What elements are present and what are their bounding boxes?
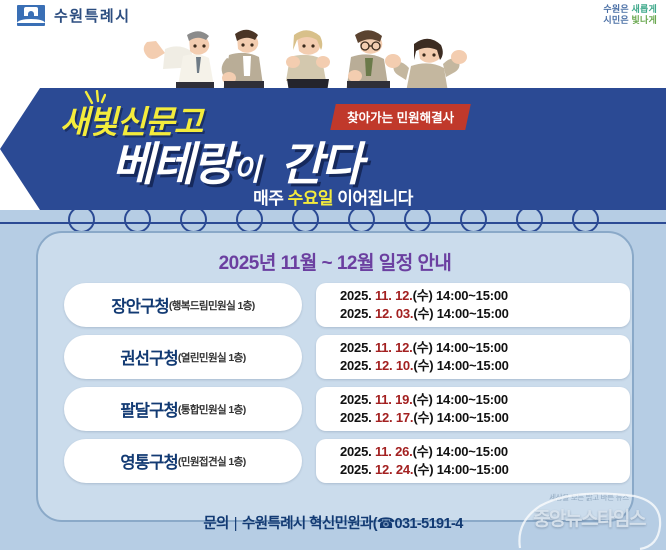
binder-ring bbox=[460, 206, 487, 233]
binder-ring bbox=[572, 206, 599, 233]
dates-cell: 2025. 11. 12.(수) 14:00~15:00 2025. 12. 0… bbox=[316, 283, 630, 327]
schedule-panel-title: 2025년 11월 ~ 12월 일정 안내 bbox=[38, 248, 632, 275]
date-line: 2025. 12. 10.(수) 14:00~15:00 bbox=[340, 357, 630, 375]
office-cell: 장안구청(행복드림민원실 1층) bbox=[64, 283, 302, 327]
date-line: 2025. 11. 12.(수) 14:00~15:00 bbox=[340, 339, 630, 357]
date-line: 2025. 12. 24.(수) 14:00~15:00 bbox=[340, 461, 630, 479]
banner-red-tag: 찾아가는 민원해결사 bbox=[330, 104, 471, 130]
footer-separator: | bbox=[229, 516, 242, 532]
sparkle-icon bbox=[82, 90, 106, 106]
dates-cell: 2025. 11. 19.(수) 14:00~15:00 2025. 12. 1… bbox=[316, 387, 630, 431]
date-line: 2025. 11. 12.(수) 14:00~15:00 bbox=[340, 287, 630, 305]
main-banner: 새빛신문고 찾아가는 민원해결사 베테랑이간다 매주 수요일 이어집니다 bbox=[0, 88, 666, 210]
binder-ring bbox=[404, 206, 431, 233]
table-row: 권선구청(열린민원실 1층) 2025. 11. 12.(수) 14:00~15… bbox=[64, 335, 606, 379]
footer-phone: 031-5191-4 bbox=[395, 516, 463, 532]
hwaseong-gate-icon bbox=[17, 5, 45, 26]
poster-root: 수원특례시 수원은 새롭게 시민은 빛나게 bbox=[0, 0, 666, 550]
binder-ring bbox=[348, 206, 375, 233]
office-cell: 팔달구청(통합민원실 1층) bbox=[64, 387, 302, 431]
office-sublocation: (열린민원실 1층) bbox=[178, 350, 246, 365]
city-slogan-line-1: 수원은 새롭게 bbox=[603, 4, 657, 15]
watermark-name: 중앙뉴스타임스 bbox=[514, 504, 664, 531]
binder-ring bbox=[516, 206, 543, 233]
office-cell: 영통구청(민원접견실 1층) bbox=[64, 439, 302, 483]
footer-department: 수원특례시 혁신민원과( bbox=[242, 516, 377, 532]
city-logo: 수원특례시 bbox=[17, 5, 131, 26]
date-line: 2025. 12. 17.(수) 14:00~15:00 bbox=[340, 409, 630, 427]
city-slogan-line-2: 시민은 빛나게 bbox=[603, 15, 657, 26]
footer-label: 문의 bbox=[203, 516, 228, 532]
banner-subtitle: 매주 수요일 이어집니다 bbox=[0, 184, 666, 209]
office-sublocation: (통합민원실 1층) bbox=[178, 402, 246, 417]
cheering-people-illustration bbox=[143, 24, 543, 92]
binder-ring bbox=[236, 206, 263, 233]
office-sublocation: (행복드림민원실 1층) bbox=[169, 298, 255, 313]
poster-header: 수원특례시 수원은 새롭게 시민은 빛나게 bbox=[0, 0, 666, 92]
dates-cell: 2025. 11. 12.(수) 14:00~15:00 2025. 12. 1… bbox=[316, 335, 630, 379]
table-row: 영통구청(민원접견실 1층) 2025. 11. 26.(수) 14:00~15… bbox=[64, 439, 606, 483]
telephone-icon: ☎ bbox=[377, 516, 394, 532]
schedule-rows: 장안구청(행복드림민원실 1층) 2025. 11. 12.(수) 14:00~… bbox=[64, 283, 606, 491]
binder-ring bbox=[68, 206, 95, 233]
office-name: 권선구청 bbox=[120, 345, 178, 369]
watermark-tagline: 세상을 보는 밝고 바른 뉴스 bbox=[514, 492, 664, 503]
office-name: 장안구청 bbox=[111, 293, 169, 317]
date-line: 2025. 11. 26.(수) 14:00~15:00 bbox=[340, 443, 630, 461]
office-name: 영통구청 bbox=[120, 449, 178, 473]
office-cell: 권선구청(열린민원실 1층) bbox=[64, 335, 302, 379]
press-watermark: 세상을 보는 밝고 바른 뉴스 중앙뉴스타임스 bbox=[514, 492, 664, 550]
table-row: 팔달구청(통합민원실 1층) 2025. 11. 19.(수) 14:00~15… bbox=[64, 387, 606, 431]
dates-cell: 2025. 11. 26.(수) 14:00~15:00 2025. 12. 2… bbox=[316, 439, 630, 483]
date-line: 2025. 12. 03.(수) 14:00~15:00 bbox=[340, 305, 630, 323]
schedule-panel: 2025년 11월 ~ 12월 일정 안내 장안구청(행복드림민원실 1층) 2… bbox=[36, 231, 634, 522]
binder-ring bbox=[180, 206, 207, 233]
table-row: 장안구청(행복드림민원실 1층) 2025. 11. 12.(수) 14:00~… bbox=[64, 283, 606, 327]
office-sublocation: (민원접견실 1층) bbox=[178, 454, 246, 469]
city-logo-label: 수원특례시 bbox=[54, 5, 131, 26]
city-slogan: 수원은 새롭게 시민은 빛나게 bbox=[603, 4, 657, 25]
date-line: 2025. 11. 19.(수) 14:00~15:00 bbox=[340, 391, 630, 409]
office-name: 팔달구청 bbox=[120, 397, 178, 421]
binder-ring bbox=[292, 206, 319, 233]
binder-ring bbox=[124, 206, 151, 233]
